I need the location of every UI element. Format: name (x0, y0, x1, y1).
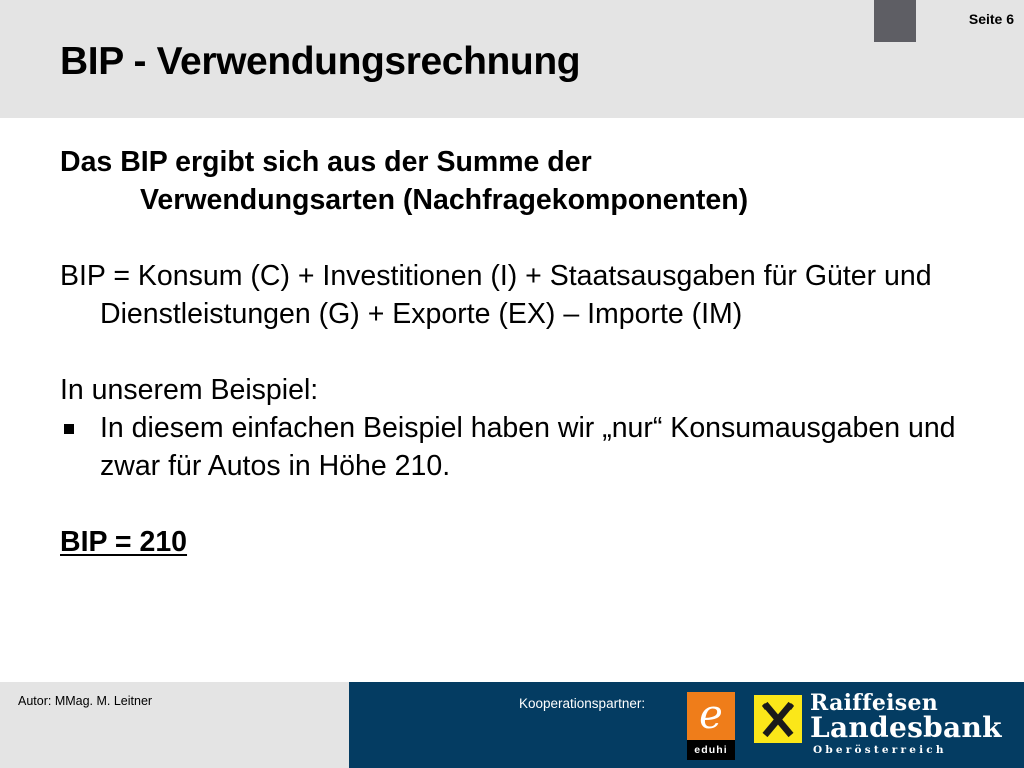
result-value: BIP = 210 (60, 523, 187, 561)
square-bullet-icon (64, 424, 74, 434)
slide-header: Seite 6 BIP - Verwendungsrechnung (0, 0, 1024, 118)
footer-right-panel: Kooperationspartner: e eduhi (349, 682, 1024, 768)
raiffeisen-wordmark: Raiffeisen Landesbank Oberösterreich (810, 692, 1016, 758)
header-marker-block (874, 0, 916, 42)
slide-body: Das BIP ergibt sich aus der Summe der Ve… (0, 118, 1024, 682)
intro-line-2: Verwendungsarten (Nachfragekomponenten) (60, 181, 990, 219)
list-item: In diesem einfachen Beispiel haben wir „… (60, 409, 990, 485)
slide-footer: Autor: MMag. M. Leitner Kooperationspart… (0, 682, 1024, 768)
formula-paragraph: BIP = Konsum (C) + Investitionen (I) + S… (60, 257, 990, 333)
cooperation-label: Kooperationspartner: (519, 696, 645, 711)
list-item-label: In diesem einfachen Beispiel haben wir „… (100, 412, 956, 482)
page-title: BIP - Verwendungsrechnung (60, 40, 580, 84)
result-row: BIP = 210 (60, 523, 990, 561)
author-label: Autor: MMag. M. Leitner (18, 694, 152, 708)
raiffeisen-line-3: Oberösterreich (810, 742, 1016, 758)
raiffeisen-gable-cross-icon (754, 695, 802, 743)
eduhi-letter: e (687, 692, 735, 740)
raiffeisen-logo: Raiffeisen Landesbank Oberösterreich (754, 692, 1016, 758)
eduhi-logo: e eduhi (687, 692, 735, 760)
spacer-2 (60, 333, 990, 371)
spacer-1 (60, 219, 990, 257)
raiffeisen-line-2: Landesbank (810, 714, 1016, 742)
content-block: Das BIP ergibt sich aus der Summe der Ve… (60, 143, 990, 561)
intro-line-1: Das BIP ergibt sich aus der Summe der (60, 143, 990, 181)
slide: Seite 6 BIP - Verwendungsrechnung Das BI… (0, 0, 1024, 768)
example-heading: In unserem Beispiel: (60, 371, 990, 409)
footer-left-panel: Autor: MMag. M. Leitner (0, 682, 349, 768)
page-number: Seite 6 (969, 11, 1014, 27)
eduhi-wordmark-band: eduhi (687, 740, 735, 760)
eduhi-wordmark: eduhi (694, 744, 728, 756)
